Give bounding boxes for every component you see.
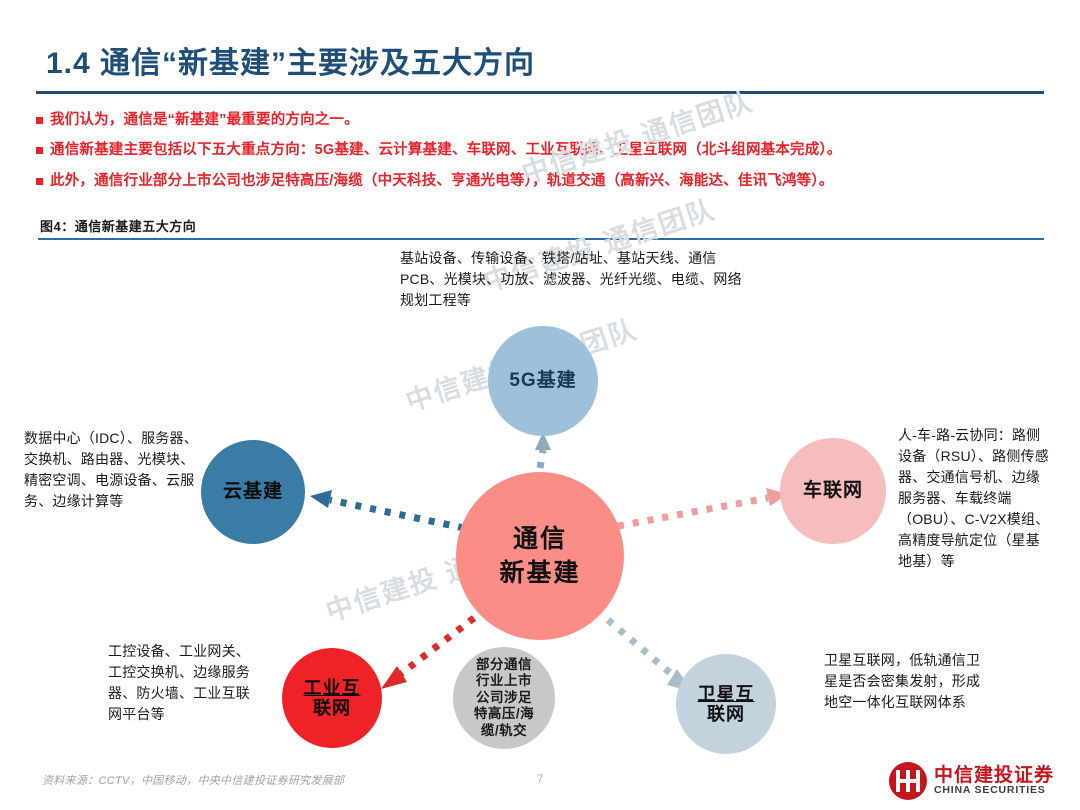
description-iov: 人-车-路-云协同：路侧设备（RSU）、路侧传感器、交通信号机、边缘服务器、车载… <box>898 425 1053 572</box>
bullet-square-icon <box>36 178 43 185</box>
node-center-tongxin-xinjijian[interactable]: 通信 新基建 <box>456 472 624 640</box>
bullet-square-icon <box>36 117 43 124</box>
node-5g-infrastructure[interactable]: 5G基建 <box>488 326 598 436</box>
diagram-area: 中信建投 通信团队 中信建投 通信团队 中信建投 通信团队 中信建投 通信团队 … <box>0 242 1080 757</box>
description-cloud: 数据中心（IDC）、服务器、交换机、路由器、光模块、精密空调、电源设备、云服务、… <box>24 428 204 512</box>
slide-canvas: 1.4 通信“新基建”主要涉及五大方向 我们认为，通信是“新基建”最重要的方向之… <box>0 0 1080 810</box>
figure-caption: 图4：通信新基建五大方向 <box>40 216 196 235</box>
node-center-line-1: 通信 <box>513 525 567 553</box>
connector-center-to-5g <box>535 432 551 468</box>
bullet-list: 我们认为，通信是“新基建”最重要的方向之一。 通信新基建主要包括以下五大重点方向… <box>36 112 1056 203</box>
logo-wordmark: 中信建投证券 CHINA SECURITIES <box>934 766 1054 797</box>
connector-center-to-iov <box>618 488 788 526</box>
node-satellite-line-2: 联网 <box>707 704 745 724</box>
logo-name-cn: 中信建投证券 <box>934 766 1054 786</box>
bullet-text: 此外，通信行业部分上市公司也涉足特高压/海缆（中天科技、亨通光电等），轨道交通（… <box>50 173 834 190</box>
node-extra-line-5: 缆/轨交 <box>481 723 527 739</box>
node-internet-of-vehicles[interactable]: 车联网 <box>780 438 886 544</box>
node-industrial-internet[interactable]: 工业互 联网 <box>282 648 382 748</box>
citic-emblem-icon <box>889 762 927 800</box>
page-title: 1.4 通信“新基建”主要涉及五大方向 <box>46 38 535 82</box>
bullet-text: 我们认为，通信是“新基建”最重要的方向之一。 <box>50 112 359 129</box>
node-satellite-internet[interactable]: 卫星互 联网 <box>676 654 776 754</box>
node-5g-label: 5G基建 <box>509 370 576 391</box>
figure-divider <box>38 238 1044 240</box>
node-center-line-2: 新基建 <box>499 559 580 587</box>
bullet-text: 通信新基建主要包括以下五大重点方向：5G基建、云计算基建、车联网、工业互联网、卫… <box>50 142 842 159</box>
connector-center-to-cloud <box>310 490 464 528</box>
node-iiot-line-2: 联网 <box>313 698 351 718</box>
node-extra-line-4: 特高压/海 <box>474 706 534 722</box>
bullet-item: 此外，通信行业部分上市公司也涉足特高压/海缆（中天科技、亨通光电等），轨道交通（… <box>36 173 1056 190</box>
description-5g: 基站设备、传输设备、铁塔/站址、基站天线、通信PCB、光模块、功放、滤波器、光纤… <box>400 248 745 311</box>
node-cloud-label: 云基建 <box>223 481 283 502</box>
node-extra-line-3: 公司涉足 <box>476 690 532 706</box>
description-satellite: 卫星互联网，低轨通信卫星是否会密集发射，形成地空一体化互联网体系 <box>824 650 984 713</box>
node-cloud-infrastructure[interactable]: 云基建 <box>201 440 305 544</box>
description-iiot: 工控设备、工业网关、工控交换机、边缘服务器、防火墙、工业互联网平台等 <box>108 641 263 725</box>
node-extra-line-2: 行业上市 <box>476 673 532 689</box>
bullet-square-icon <box>36 147 43 154</box>
logo-name-en: CHINA SECURITIES <box>934 785 1054 796</box>
node-extra-line-1: 部分通信 <box>476 657 532 673</box>
bullet-item: 我们认为，通信是“新基建”最重要的方向之一。 <box>36 112 1056 129</box>
title-divider <box>36 91 1044 94</box>
company-logo: 中信建投证券 CHINA SECURITIES <box>889 762 1054 800</box>
node-satellite-line-1: 卫星互 <box>698 684 755 704</box>
bullet-item: 通信新基建主要包括以下五大重点方向：5G基建、云计算基建、车联网、工业互联网、卫… <box>36 142 1056 159</box>
node-iiot-line-1: 工业互 <box>304 678 361 698</box>
node-extra-sectors[interactable]: 部分通信 行业上市 公司涉足 特高压/海 缆/轨交 <box>453 647 555 749</box>
node-iov-label: 车联网 <box>803 480 863 501</box>
